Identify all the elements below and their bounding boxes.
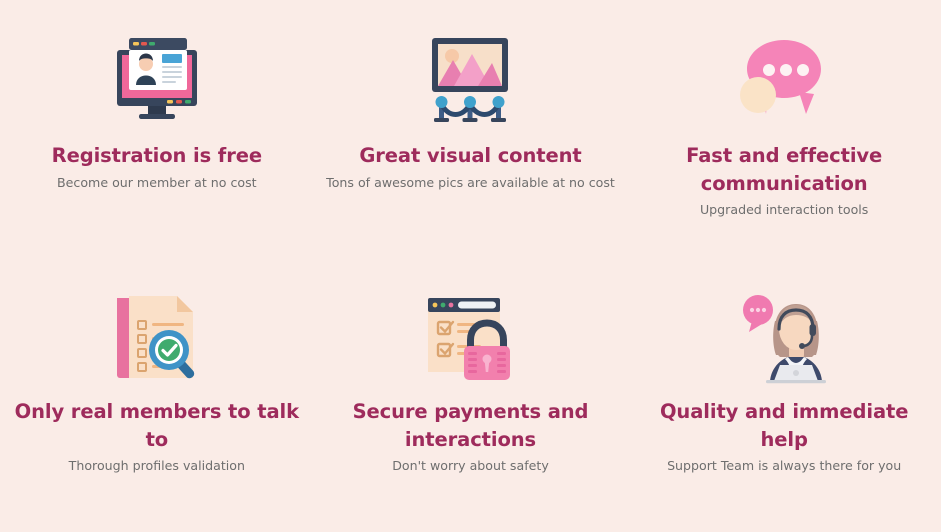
feature-subtitle: Support Team is always there for you — [667, 457, 901, 476]
feature-subtitle: Become our member at no cost — [57, 174, 257, 193]
feature-title: Only real members to talk to — [10, 398, 304, 453]
feature-card-visual-content: Great visual content Tons of awesome pic… — [314, 0, 628, 266]
gallery-picture-icon — [405, 22, 535, 134]
feature-subtitle: Tons of awesome pics are available at no… — [326, 174, 615, 193]
feature-card-communication: Fast and effective communication Upgrade… — [627, 0, 941, 266]
feature-title: Secure payments and interactions — [324, 398, 618, 453]
feature-subtitle: Don't worry about safety — [392, 457, 549, 476]
browser-lock-icon — [405, 284, 535, 392]
feature-card-secure-payments: Secure payments and interactions Don't w… — [314, 266, 628, 532]
feature-title: Quality and immediate help — [637, 398, 931, 453]
monitor-profile-icon — [92, 22, 222, 134]
feature-card-support-help: Quality and immediate help Support Team … — [627, 266, 941, 532]
feature-title: Great visual content — [359, 142, 581, 170]
support-agent-icon — [719, 284, 849, 392]
feature-title: Fast and effective communication — [637, 142, 931, 197]
features-grid: Registration is free Become our member a… — [0, 0, 941, 532]
feature-card-real-members: Only real members to talk to Thorough pr… — [0, 266, 314, 532]
feature-subtitle: Upgraded interaction tools — [700, 201, 868, 220]
feature-title: Registration is free — [52, 142, 262, 170]
feature-subtitle: Thorough profiles validation — [69, 457, 245, 476]
chat-bubble-icon — [719, 22, 849, 134]
document-magnifier-check-icon — [92, 284, 222, 392]
feature-card-registration: Registration is free Become our member a… — [0, 0, 314, 266]
